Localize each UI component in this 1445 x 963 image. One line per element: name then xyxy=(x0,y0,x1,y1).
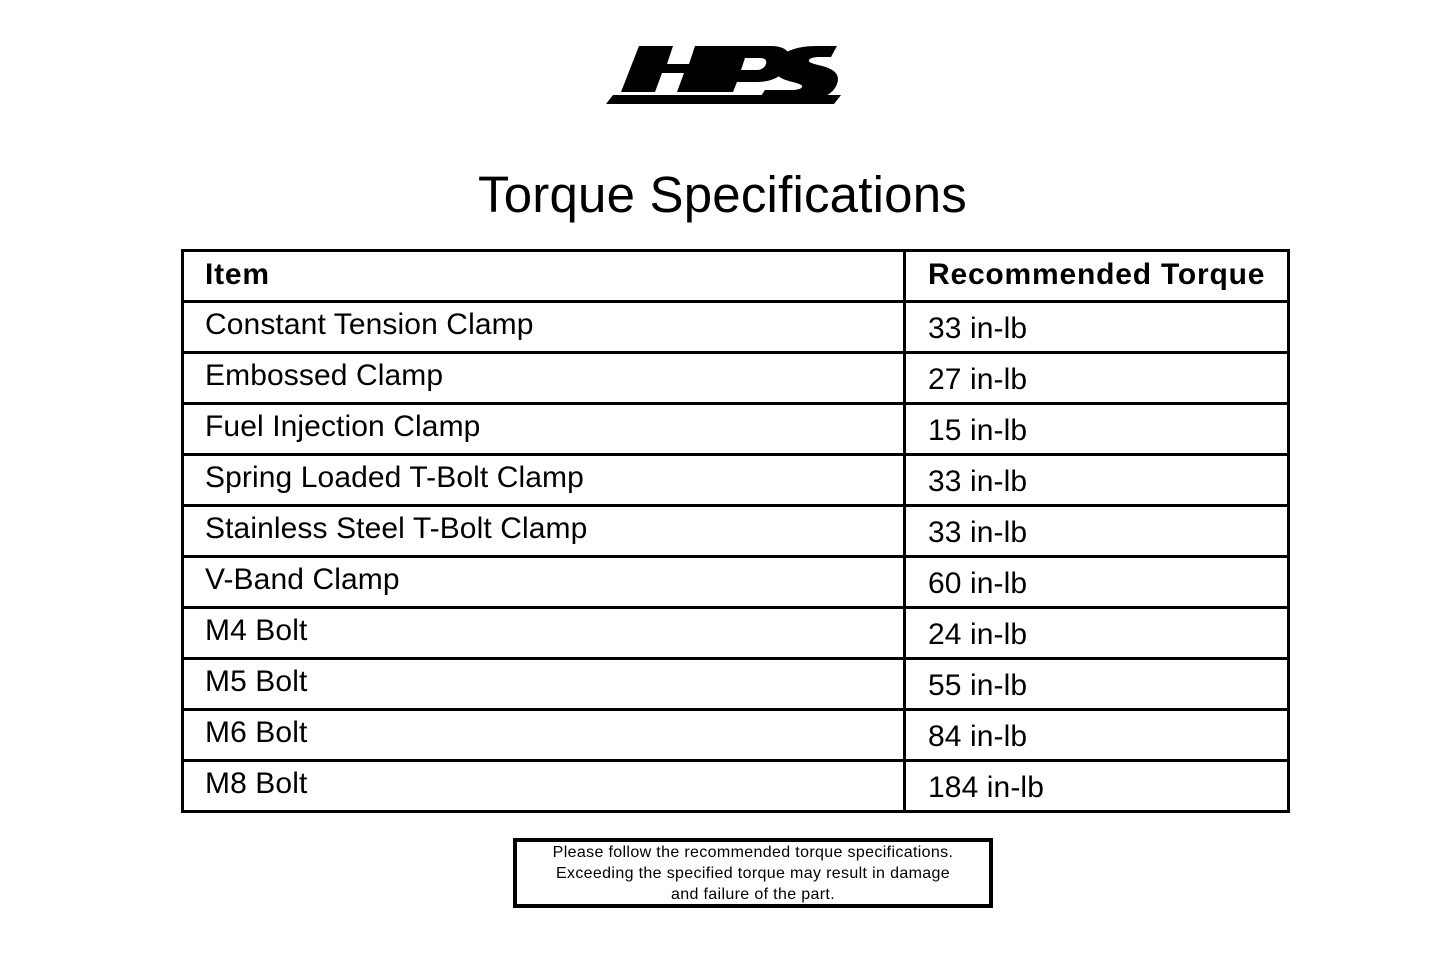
table-row: Constant Tension Clamp33 in-lb xyxy=(183,302,1289,353)
note-line-3: and failure of the part. xyxy=(517,884,989,905)
cell-torque: 24 in-lb xyxy=(905,608,1289,659)
cell-item-label: M5 Bolt xyxy=(184,665,903,699)
table-row: Fuel Injection Clamp15 in-lb xyxy=(183,404,1289,455)
cell-torque: 184 in-lb xyxy=(905,761,1289,812)
brand-logo xyxy=(0,40,1445,110)
cell-item: M5 Bolt xyxy=(183,659,905,710)
cell-torque: 60 in-lb xyxy=(905,557,1289,608)
cell-torque-value: 60 in-lb xyxy=(906,567,1287,601)
cell-item-label: M4 Bolt xyxy=(184,614,903,648)
cell-torque-value: 33 in-lb xyxy=(906,465,1287,499)
cell-item: M4 Bolt xyxy=(183,608,905,659)
cell-torque: 15 in-lb xyxy=(905,404,1289,455)
table-row: V-Band Clamp60 in-lb xyxy=(183,557,1289,608)
cell-item: Constant Tension Clamp xyxy=(183,302,905,353)
cell-item-label: Stainless Steel T-Bolt Clamp xyxy=(184,512,903,546)
cell-item: Spring Loaded T-Bolt Clamp xyxy=(183,455,905,506)
cell-item-label: Spring Loaded T-Bolt Clamp xyxy=(184,461,903,495)
cell-torque-value: 184 in-lb xyxy=(906,771,1287,805)
cell-torque: 33 in-lb xyxy=(905,455,1289,506)
cell-torque-value: 24 in-lb xyxy=(906,618,1287,652)
column-header-recommended-torque-label: Recommended Torque xyxy=(906,258,1287,295)
table-row: Stainless Steel T-Bolt Clamp33 in-lb xyxy=(183,506,1289,557)
cell-item: M6 Bolt xyxy=(183,710,905,761)
table-row: M5 Bolt55 in-lb xyxy=(183,659,1289,710)
torque-specifications-table: Item Recommended Torque Constant Tension… xyxy=(181,249,1290,813)
cell-torque-value: 55 in-lb xyxy=(906,669,1287,703)
column-header-item-label: Item xyxy=(184,258,903,295)
column-header-recommended-torque: Recommended Torque xyxy=(905,251,1289,302)
cell-torque-value: 15 in-lb xyxy=(906,414,1287,448)
note-line-2: Exceeding the specified torque may resul… xyxy=(517,863,989,884)
cell-torque-value: 27 in-lb xyxy=(906,363,1287,397)
table-row: Spring Loaded T-Bolt Clamp33 in-lb xyxy=(183,455,1289,506)
table-row: M4 Bolt24 in-lb xyxy=(183,608,1289,659)
cell-torque: 27 in-lb xyxy=(905,353,1289,404)
cell-item-label: Embossed Clamp xyxy=(184,359,903,393)
cell-torque: 33 in-lb xyxy=(905,302,1289,353)
note-line-1: Please follow the recommended torque spe… xyxy=(517,842,989,863)
column-header-item: Item xyxy=(183,251,905,302)
cell-torque: 84 in-lb xyxy=(905,710,1289,761)
cell-item-label: M8 Bolt xyxy=(184,767,903,801)
table-header-row: Item Recommended Torque xyxy=(183,251,1289,302)
table-row: M6 Bolt84 in-lb xyxy=(183,710,1289,761)
cell-item-label: Fuel Injection Clamp xyxy=(184,410,903,444)
table-body: Constant Tension Clamp33 in-lbEmbossed C… xyxy=(183,302,1289,812)
cell-item: Stainless Steel T-Bolt Clamp xyxy=(183,506,905,557)
cell-torque-value: 84 in-lb xyxy=(906,720,1287,754)
page-title: Torque Specifications xyxy=(0,164,1445,226)
table-row: Embossed Clamp27 in-lb xyxy=(183,353,1289,404)
cell-item: V-Band Clamp xyxy=(183,557,905,608)
cell-item-label: M6 Bolt xyxy=(184,716,903,750)
warning-note-box: Please follow the recommended torque spe… xyxy=(513,838,993,908)
table-row: M8 Bolt184 in-lb xyxy=(183,761,1289,812)
cell-torque-value: 33 in-lb xyxy=(906,312,1287,346)
cell-torque: 55 in-lb xyxy=(905,659,1289,710)
cell-item-label: Constant Tension Clamp xyxy=(184,308,903,342)
cell-item: Fuel Injection Clamp xyxy=(183,404,905,455)
cell-item: Embossed Clamp xyxy=(183,353,905,404)
hps-logo-icon xyxy=(605,40,841,104)
cell-item: M8 Bolt xyxy=(183,761,905,812)
cell-torque-value: 33 in-lb xyxy=(906,516,1287,550)
table-header: Item Recommended Torque xyxy=(183,251,1289,302)
cell-item-label: V-Band Clamp xyxy=(184,563,903,597)
cell-torque: 33 in-lb xyxy=(905,506,1289,557)
